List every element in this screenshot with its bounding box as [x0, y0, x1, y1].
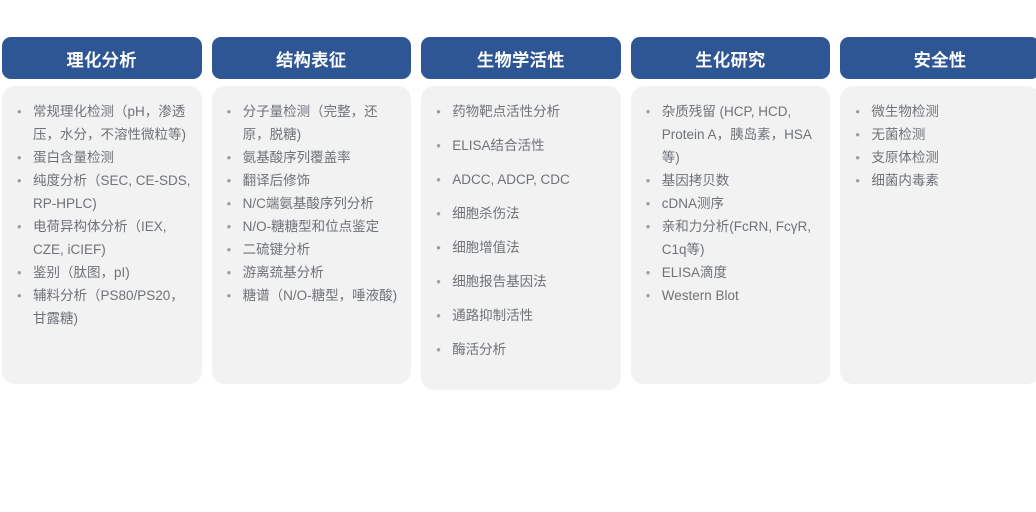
list-item[interactable]: •鉴别（肽图，pI)	[12, 261, 192, 284]
category-header-2[interactable]: 生物学活性	[421, 37, 621, 79]
list-item[interactable]: •翻译后修饰	[222, 169, 402, 192]
list-item-label: ELISA结合活性	[452, 138, 544, 153]
list-item[interactable]: •细胞杀伤法	[431, 202, 611, 225]
list-item[interactable]: •细菌内毒素	[850, 169, 1030, 192]
list-item-label: 鉴别（肽图，pI)	[33, 265, 130, 280]
list-item[interactable]: •酶活分析	[431, 338, 611, 361]
list-item-label: ELISA滴度	[662, 265, 727, 280]
list-item[interactable]: •ADCC, ADCP, CDC	[431, 168, 611, 191]
bullet-icon: •	[227, 215, 232, 238]
list-item-label: cDNA测序	[662, 196, 724, 211]
bullet-icon: •	[17, 146, 22, 169]
bullet-icon: •	[227, 238, 232, 261]
list-item[interactable]: •纯度分析（SEC, CE-SDS, RP-HPLC)	[12, 169, 192, 215]
category-column: 生物学活性•药物靶点活性分析•ELISA结合活性•ADCC, ADCP, CDC…	[421, 37, 621, 390]
list-item-label: 常规理化检测（pH，渗透压，水分，不溶性微粒等)	[33, 104, 186, 142]
slide-canvas: 理化分析•常规理化检测（pH，渗透压，水分，不溶性微粒等)•蛋白含量检测•纯度分…	[0, 0, 1036, 512]
list-item[interactable]: •游离巯基分析	[222, 261, 402, 284]
category-body-0: •常规理化检测（pH，渗透压，水分，不溶性微粒等)•蛋白含量检测•纯度分析（SE…	[2, 86, 202, 384]
category-column: 结构表征•分子量检测（完整，还原，脱糖)•氨基酸序列覆盖率•翻译后修饰•N/C端…	[212, 37, 412, 384]
bullet-icon: •	[227, 146, 232, 169]
bullet-icon: •	[227, 261, 232, 284]
list-item-label: 酶活分析	[452, 342, 506, 357]
list-item-label: 细胞增值法	[452, 240, 520, 255]
list-item[interactable]: •药物靶点活性分析	[431, 100, 611, 123]
category-body-1: •分子量检测（完整，还原，脱糖)•氨基酸序列覆盖率•翻译后修饰•N/C端氨基酸序…	[212, 86, 412, 384]
category-body-2: •药物靶点活性分析•ELISA结合活性•ADCC, ADCP, CDC•细胞杀伤…	[421, 86, 621, 390]
category-column: 理化分析•常规理化检测（pH，渗透压，水分，不溶性微粒等)•蛋白含量检测•纯度分…	[2, 37, 202, 384]
bullet-icon: •	[17, 284, 22, 307]
item-list: •微生物检测•无菌检测•支原体检测•细菌内毒素	[850, 100, 1030, 192]
list-item[interactable]: •细胞报告基因法	[431, 270, 611, 293]
bullet-icon: •	[436, 270, 441, 293]
bullet-icon: •	[436, 168, 441, 191]
category-body-4: •微生物检测•无菌检测•支原体检测•细菌内毒素	[840, 86, 1036, 384]
list-item[interactable]: •ELISA滴度	[641, 261, 821, 284]
list-item-label: 游离巯基分析	[243, 265, 324, 280]
list-item[interactable]: •常规理化检测（pH，渗透压，水分，不溶性微粒等)	[12, 100, 192, 146]
list-item-label: 通路抑制活性	[452, 308, 533, 323]
list-item-label: 翻译后修饰	[243, 173, 311, 188]
bullet-icon: •	[436, 236, 441, 259]
bullet-icon: •	[646, 192, 651, 215]
category-header-3[interactable]: 生化研究	[631, 37, 831, 79]
list-item[interactable]: •ELISA结合活性	[431, 134, 611, 157]
list-item[interactable]: •杂质残留 (HCP, HCD, Protein A，胰岛素，HSA等)	[641, 100, 821, 169]
list-item-label: 辅料分析（PS80/PS20，甘露糖)	[33, 288, 184, 326]
bullet-icon: •	[227, 169, 232, 192]
item-list: •药物靶点活性分析•ELISA结合活性•ADCC, ADCP, CDC•细胞杀伤…	[431, 100, 611, 361]
bullet-icon: •	[436, 338, 441, 361]
category-header-0[interactable]: 理化分析	[2, 37, 202, 79]
list-item[interactable]: •N/O-糖糖型和位点鉴定	[222, 215, 402, 238]
list-item-label: 蛋白含量检测	[33, 150, 114, 165]
list-item-label: N/C端氨基酸序列分析	[243, 196, 374, 211]
list-item[interactable]: •蛋白含量检测	[12, 146, 192, 169]
list-item-label: 细胞报告基因法	[452, 274, 547, 289]
bullet-icon: •	[17, 100, 22, 123]
list-item-label: 基因拷贝数	[662, 173, 730, 188]
list-item-label: 无菌检测	[871, 127, 925, 142]
list-item-label: 支原体检测	[871, 150, 939, 165]
list-item-label: 杂质残留 (HCP, HCD, Protein A，胰岛素，HSA等)	[662, 104, 812, 165]
list-item-label: 微生物检测	[871, 104, 939, 119]
bullet-icon: •	[436, 134, 441, 157]
list-item-label: 纯度分析（SEC, CE-SDS, RP-HPLC)	[33, 173, 191, 211]
bullet-icon: •	[646, 169, 651, 192]
list-item-label: 分子量检测（完整，还原，脱糖)	[243, 104, 378, 142]
bullet-icon: •	[436, 100, 441, 123]
list-item[interactable]: •Western Blot	[641, 284, 821, 307]
list-item[interactable]: •无菌检测	[850, 123, 1030, 146]
bullet-icon: •	[855, 123, 860, 146]
list-item[interactable]: •分子量检测（完整，还原，脱糖)	[222, 100, 402, 146]
bullet-icon: •	[855, 100, 860, 123]
bullet-icon: •	[646, 100, 651, 123]
list-item[interactable]: •cDNA测序	[641, 192, 821, 215]
category-column: 生化研究•杂质残留 (HCP, HCD, Protein A，胰岛素，HSA等)…	[631, 37, 831, 384]
item-list: •杂质残留 (HCP, HCD, Protein A，胰岛素，HSA等)•基因拷…	[641, 100, 821, 307]
list-item[interactable]: •电荷异构体分析（IEX, CZE, iCIEF)	[12, 215, 192, 261]
bullet-icon: •	[227, 192, 232, 215]
bullet-icon: •	[17, 261, 22, 284]
list-item-label: 氨基酸序列覆盖率	[243, 150, 351, 165]
bullet-icon: •	[646, 215, 651, 238]
list-item-label: N/O-糖糖型和位点鉴定	[243, 219, 380, 234]
list-item[interactable]: •糖谱（N/O-糖型，唾液酸)	[222, 284, 402, 307]
list-item[interactable]: •N/C端氨基酸序列分析	[222, 192, 402, 215]
list-item[interactable]: •细胞增值法	[431, 236, 611, 259]
list-item-label: 糖谱（N/O-糖型，唾液酸)	[243, 288, 398, 303]
list-item-label: 药物靶点活性分析	[452, 104, 560, 119]
category-header-1[interactable]: 结构表征	[212, 37, 412, 79]
bullet-icon: •	[646, 261, 651, 284]
list-item-label: 亲和力分析(FcRN, FcγR, C1q等)	[662, 219, 811, 257]
list-item[interactable]: •微生物检测	[850, 100, 1030, 123]
item-list: •常规理化检测（pH，渗透压，水分，不溶性微粒等)•蛋白含量检测•纯度分析（SE…	[12, 100, 192, 330]
list-item-label: 细菌内毒素	[871, 173, 939, 188]
bullet-icon: •	[436, 304, 441, 327]
bullet-icon: •	[227, 284, 232, 307]
list-item-label: 二硫键分析	[243, 242, 311, 257]
bullet-icon: •	[646, 284, 651, 307]
bullet-icon: •	[855, 169, 860, 192]
list-item[interactable]: •辅料分析（PS80/PS20，甘露糖)	[12, 284, 192, 330]
bullet-icon: •	[855, 146, 860, 169]
list-item-label: ADCC, ADCP, CDC	[452, 172, 570, 187]
bullet-icon: •	[436, 202, 441, 225]
list-item[interactable]: •二硫键分析	[222, 238, 402, 261]
list-item-label: 电荷异构体分析（IEX, CZE, iCIEF)	[33, 219, 167, 257]
list-item[interactable]: •支原体检测	[850, 146, 1030, 169]
list-item[interactable]: •通路抑制活性	[431, 304, 611, 327]
bullet-icon: •	[17, 215, 22, 238]
list-item[interactable]: •氨基酸序列覆盖率	[222, 146, 402, 169]
category-columns: 理化分析•常规理化检测（pH，渗透压，水分，不溶性微粒等)•蛋白含量检测•纯度分…	[2, 37, 1034, 390]
category-body-3: •杂质残留 (HCP, HCD, Protein A，胰岛素，HSA等)•基因拷…	[631, 86, 831, 384]
category-column: 安全性•微生物检测•无菌检测•支原体检测•细菌内毒素	[840, 37, 1036, 384]
list-item[interactable]: •亲和力分析(FcRN, FcγR, C1q等)	[641, 215, 821, 261]
item-list: •分子量检测（完整，还原，脱糖)•氨基酸序列覆盖率•翻译后修饰•N/C端氨基酸序…	[222, 100, 402, 307]
bullet-icon: •	[17, 169, 22, 192]
category-header-4[interactable]: 安全性	[840, 37, 1036, 79]
list-item-label: Western Blot	[662, 288, 739, 303]
bullet-icon: •	[227, 100, 232, 123]
list-item[interactable]: •基因拷贝数	[641, 169, 821, 192]
list-item-label: 细胞杀伤法	[452, 206, 520, 221]
